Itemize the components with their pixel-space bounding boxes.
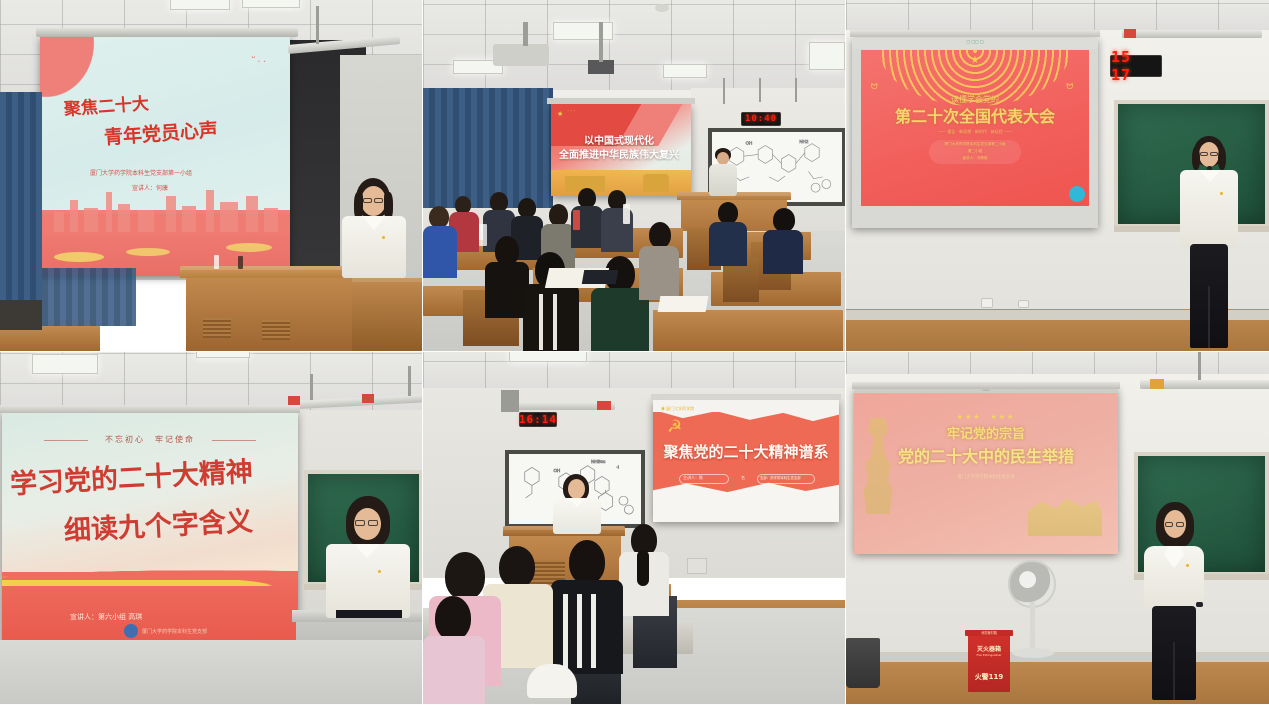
slide-title-line2: 党的二十大中的民生举措 (898, 448, 1074, 466)
slide-title-line2: 全面推进中华民族伟大复兴 (559, 150, 679, 161)
slide-stars: ★★★ ★★★ (957, 412, 1016, 422)
desk (653, 310, 843, 352)
ceiling-rod (795, 78, 797, 102)
ceiling-light (663, 64, 707, 78)
pavilion-silhouette (1028, 494, 1102, 536)
light-bar-cap (1124, 29, 1136, 38)
ceiling-rod (408, 366, 411, 396)
trash-bin (846, 638, 880, 688)
ceiling-rod (759, 78, 761, 102)
clock-time: 15 17 (1111, 48, 1161, 84)
ceiling (846, 0, 1269, 34)
hair-side (1192, 146, 1200, 170)
student (423, 206, 457, 276)
standing-fan (1008, 560, 1056, 608)
slide-header: 不忘初心 牢记使命 (105, 434, 195, 445)
svg-text:·I: ·I (616, 464, 619, 469)
presenter (1138, 502, 1210, 702)
slide-footer: 厦门大学药学院本科生党支部 (142, 628, 207, 635)
notebook (658, 296, 709, 312)
slide-title-line1: 读懂学会党的 (951, 94, 999, 105)
slide-content: ★ ˙˙˙ 以中国式现代化 全面推进中华民族伟大复兴 (551, 104, 691, 196)
laptop (582, 270, 618, 284)
photo-panel-2[interactable]: 10:40 OH NH2 (423, 0, 846, 352)
ceiling-rod (599, 22, 603, 62)
slide-title-line2: 细读九个字含义 (63, 507, 253, 547)
university-logo (124, 624, 138, 638)
podium-top (180, 266, 362, 278)
party-badge (378, 570, 381, 573)
bird-decoration: ᵕ ˎ ˏ (252, 52, 266, 62)
photo-panel-1[interactable]: ᵕ ˎ ˏ 聚焦二十大 青年党员心声 厦门大学药学院本科生党支部第一小组 宣讲人… (0, 0, 423, 352)
app-badge (1069, 186, 1085, 202)
belt (336, 610, 402, 618)
slide-presenter: 宣讲人：第六小组 高琪 (70, 612, 142, 622)
svg-text:OH: OH (746, 141, 753, 146)
ceiling-light (242, 0, 300, 8)
slide-content: ▢ ▢▢ ▢ ★ ᗢ ᗢ 读懂学会党的 第二十次全国代表大会 —— 报告 · 新… (852, 38, 1098, 228)
slide-title-line1: 聚焦党的二十大精神谱系 (663, 444, 828, 461)
presenter (549, 474, 605, 532)
wall-box (501, 390, 519, 412)
podium-vent (262, 320, 290, 340)
slide-tagline: —— 报告 · 新思想 · 新时代 · 新征程 —— (938, 129, 1012, 135)
student (763, 208, 803, 270)
fan-pole (1030, 602, 1035, 654)
light-bar-cap (597, 401, 611, 410)
monument-silhouette (860, 418, 896, 514)
seat-back (0, 300, 42, 330)
slide-title-line1: 牢记党的宗旨 (947, 428, 1025, 443)
light-bar (1122, 30, 1262, 38)
glasses-icon (1200, 152, 1208, 156)
slide-badge-right: 支部：药学院本科生党支部 (760, 475, 801, 480)
ceiling-light (553, 22, 613, 40)
clock-time: 16:14 (519, 413, 557, 426)
screen-roller (651, 394, 841, 400)
slide-title-line1: 以中国式现代化 (584, 136, 654, 147)
photo-collage: ᵕ ˎ ˏ 聚焦二十大 青年党员心声 厦门大学药学院本科生党支部第一小组 宣讲人… (0, 0, 1269, 705)
wall-outlet (1018, 300, 1029, 308)
slide-badge-center: 名 (741, 475, 745, 481)
slide-subtitle: 厦门大学药学院本科生党支部第一小组 (90, 168, 192, 177)
slide-title-line1: 聚焦二十大 (63, 95, 149, 120)
hair-side (1218, 146, 1226, 170)
slide-badge-left: 主讲人：陈 (683, 475, 703, 481)
screen-roller (36, 28, 298, 37)
projection-screen: ★ ˙˙˙ 以中国式现代化 全面推进中华民族伟大复兴 (551, 104, 691, 196)
water-bottle (573, 210, 580, 230)
light-bar-cap (362, 394, 374, 403)
water-bottle (623, 204, 630, 224)
ceiling (423, 352, 845, 392)
party-badge (1186, 564, 1189, 567)
flag-stars: ★ ˙˙˙ (557, 110, 577, 118)
podium-right-block (352, 278, 423, 352)
svg-text:NHBoc: NHBoc (591, 459, 606, 464)
slide-content: 不忘初心 牢记使命 学习党的二十大精神 细读九个字含义 宣讲人：第六小组 高琪 … (2, 412, 298, 644)
presenter (1176, 136, 1246, 352)
school-badge: ◉ 厦门大学药学院 (661, 406, 694, 412)
fire-box-label-en: Fire Extinguisher (968, 653, 1010, 657)
projection-screen: ☭ ◉ 厦门大学药学院 聚焦党的二十大精神谱系 主讲人：陈 名 支部：药学院本科… (653, 400, 839, 522)
podium-vent (203, 318, 231, 338)
slide-subtitle: 厦门大学药学院本科生党支部第二小组 (944, 142, 1005, 147)
ceiling-light (809, 42, 845, 70)
shirt (1180, 170, 1238, 248)
wall-notice (687, 558, 707, 574)
presenter (336, 178, 418, 278)
party-emblem: ☭ (667, 418, 689, 438)
glasses-icon (374, 198, 383, 203)
ceiling-projector (493, 44, 549, 66)
glasses-icon (355, 520, 365, 526)
fire-box-label-top: 消防器材箱 (968, 630, 1010, 635)
light-bar-cap (1150, 379, 1164, 389)
party-badge (1220, 192, 1223, 195)
slide-subtitle: 厦门大学药学院本科生党支部 (957, 474, 1014, 480)
light-bar-cap (288, 396, 300, 405)
screen-roller (850, 30, 1100, 37)
ceiling (423, 0, 845, 95)
glasses-icon (363, 198, 372, 203)
projection-screen: ▢ ▢▢ ▢ ★ ᗢ ᗢ 读懂学会党的 第二十次全国代表大会 —— 报告 · 新… (852, 38, 1098, 228)
photo-panel-3[interactable]: ▢ ▢▢ ▢ ★ ᗢ ᗢ 读懂学会党的 第二十次全国代表大会 —— 报告 · 新… (846, 0, 1269, 352)
wristwatch (1196, 602, 1203, 607)
screen-roller (547, 98, 695, 104)
slide-title-line1: 学习党的二十大精神 (9, 458, 253, 501)
glasses-icon (368, 520, 378, 526)
glasses-icon (1210, 152, 1218, 156)
presenter (320, 496, 416, 618)
student (639, 222, 679, 298)
window-curtain (36, 268, 136, 326)
svg-text:OH: OH (553, 468, 560, 473)
water-bottle (479, 224, 487, 246)
screen-roller (0, 405, 300, 413)
slide-presenter: 宣讲人：何康 (132, 183, 168, 192)
student (619, 524, 669, 614)
digital-clock: 10:40 (741, 112, 781, 126)
student (523, 252, 579, 352)
ceiling-light (170, 0, 230, 10)
ceiling-rod (723, 78, 725, 104)
student (709, 202, 747, 262)
projector-mount (523, 22, 528, 46)
ceiling-rod (316, 6, 319, 44)
glasses-icon (1176, 522, 1184, 527)
slide-group: 第二小组 (968, 149, 982, 154)
digital-clock: 16:14 (519, 412, 557, 427)
ceiling-rod (1198, 352, 1201, 380)
slide-content: ☭ ◉ 厦门大学药学院 聚焦党的二十大精神谱系 主讲人：陈 名 支部：药学院本科… (653, 400, 839, 522)
projection-screen: ▪ ▪▪▪ ▪ ★★★ ★★★ 牢记党的宗旨 党的二十大中的民生举措 厦门大学药… (854, 388, 1118, 554)
ppt-toolbar: ▢ ▢▢ ▢ (966, 39, 983, 44)
digital-clock-display: 15 17 (1110, 55, 1162, 77)
student (551, 540, 623, 672)
slide-title-line2: 青年党员心声 (103, 120, 218, 149)
fire-box[interactable]: 消防器材箱 灭火器箱 Fire Extinguisher 火警119 (968, 630, 1010, 692)
floor (0, 640, 422, 704)
fan-base (1012, 648, 1054, 658)
slide-content: ᵕ ˎ ˏ 聚焦二十大 青年党员心声 厦门大学药学院本科生党支部第一小组 宣讲人… (40, 36, 290, 276)
party-badge (382, 236, 385, 239)
smoke-detector (655, 4, 669, 12)
photo-panel-4[interactable]: 不忘初心 牢记使命 学习党的二十大精神 细读九个字含义 宣讲人：第六小组 高琪 … (0, 352, 423, 705)
ceiling-light (196, 352, 250, 358)
presenter (707, 148, 739, 196)
wall-outlet (981, 298, 993, 308)
fire-box-label-bottom: 火警119 (968, 672, 1010, 682)
ceiling-mount (588, 60, 614, 74)
water-bottle (238, 256, 243, 269)
svg-text:NH2: NH2 (799, 139, 808, 144)
pant-split (1208, 286, 1210, 348)
fire-box-label-mid: 灭火器箱 (968, 644, 1010, 653)
glasses-icon (1165, 522, 1173, 527)
slide-presenter: 宣讲人：冯敬榕 (962, 156, 987, 161)
slide-title-line2: 第二十次全国代表大会 (895, 108, 1055, 126)
photo-panel-6[interactable]: ▪ ▪▪▪ ▪ ★★★ ★★★ 牢记党的宗旨 党的二十大中的民生举措 厦门大学药… (846, 352, 1269, 705)
head (568, 479, 585, 499)
white-cap (527, 664, 577, 698)
projection-screen: ᵕ ˎ ˏ 聚焦二十大 青年党员心声 厦门大学药学院本科生党支部第一小组 宣讲人… (40, 36, 290, 276)
ceiling-light (509, 352, 587, 362)
projection-screen: 不忘初心 牢记使命 学习党的二十大精神 细读九个字含义 宣讲人：第六小组 高琪 … (2, 412, 298, 644)
student (423, 596, 485, 704)
ceiling-light (32, 354, 98, 374)
shirt (709, 164, 737, 196)
pant-split (1173, 642, 1175, 700)
slide-content: ▪ ▪▪▪ ▪ ★★★ ★★★ 牢记党的宗旨 党的二十大中的民生举措 厦门大学药… (854, 388, 1118, 554)
ceiling-rod (310, 374, 313, 400)
water-bottle (214, 255, 219, 269)
screen-roller (852, 382, 1120, 389)
photo-panel-5[interactable]: 16:14 NHBoc ·I OH (423, 352, 846, 705)
window-curtain (423, 88, 553, 208)
